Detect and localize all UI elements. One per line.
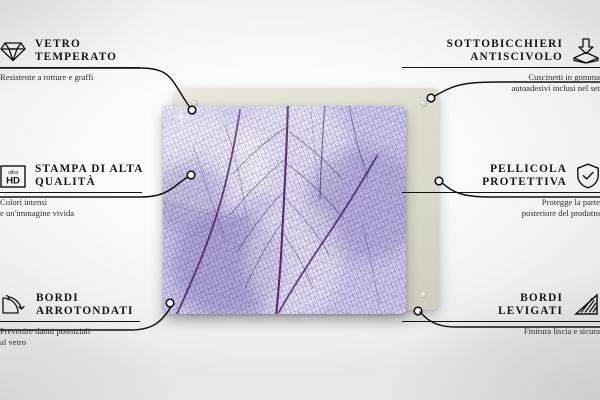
feature-subtitle: Finitura liscia e sicura (402, 326, 600, 337)
feature-divider (402, 192, 600, 193)
feature-header: VETRO TEMPERATO (0, 38, 200, 64)
feature-divider (0, 192, 142, 193)
feature-header: BORDI LEVIGATI (402, 292, 600, 318)
feature-subtitle: Protegge la parte posteriore del prodott… (402, 197, 600, 218)
feature-divider (402, 321, 600, 322)
feature-divider (0, 321, 140, 322)
infographic-stage: VETRO TEMPERATO Resistente a rotture e g… (0, 0, 600, 400)
feature-title: VETRO TEMPERATO (35, 38, 117, 64)
rounded-corner-icon (0, 294, 27, 316)
feature-subtitle: Resistente a rotture e graffi (0, 72, 200, 83)
feature-callout-pellicola-protettiva[interactable]: PELLICOLA PROTETTIVA Protegge la parte p… (402, 163, 600, 219)
feature-callout-bordi-levigati[interactable]: BORDI LEVIGATI Finitura liscia e sicura (402, 292, 600, 337)
feature-divider (0, 67, 140, 68)
feature-callout-bordi-arrotondati[interactable]: BORDI ARROTONDATI Prevenire danni potenz… (0, 292, 200, 348)
feature-title: BORDI LEVIGATI (498, 292, 563, 318)
feature-subtitle: Cuscinetti in gomma autoadesivi inclusi … (402, 72, 600, 93)
ultra-hd-icon: ultra HD (0, 165, 26, 188)
feature-title: BORDI ARROTONDATI (36, 292, 134, 318)
feature-callout-vetro-temperato[interactable]: VETRO TEMPERATO Resistente a rotture e g… (0, 38, 200, 83)
feature-title: PELLICOLA PROTETTIVA (482, 163, 567, 189)
sanded-edge-icon (572, 293, 600, 317)
feature-title: SOTTOBICCHIERI ANTISCIVOLO (447, 38, 563, 64)
diamond-icon (0, 41, 26, 62)
feature-header: ultra HD STAMPA DI ALTA QUALITÀ (0, 163, 202, 189)
feature-callout-stampa-alta-qualita[interactable]: ultra HD STAMPA DI ALTA QUALITÀ Colori i… (0, 163, 202, 219)
feature-subtitle: Colori intensi e un'immagine vivida (0, 197, 202, 218)
anti-slip-pad-icon (572, 38, 600, 64)
shield-check-icon (576, 163, 600, 189)
feature-title: STAMPA DI ALTA QUALITÀ (35, 163, 144, 189)
feature-divider (402, 67, 600, 68)
rubber-pad-icon (420, 100, 427, 107)
feature-header: SOTTOBICCHIERI ANTISCIVOLO (402, 38, 600, 64)
ultra-hd-icon-label-bottom: HD (6, 175, 20, 186)
feature-subtitle: Prevenire danni potenziali al vetro (0, 326, 200, 347)
feature-header: PELLICOLA PROTETTIVA (402, 163, 600, 189)
feature-callout-sottobicchieri-antiscivolo[interactable]: SOTTOBICCHIERI ANTISCIVOLO Cuscinetti in… (402, 38, 600, 94)
feature-header: BORDI ARROTONDATI (0, 292, 200, 318)
product-image (163, 88, 439, 316)
